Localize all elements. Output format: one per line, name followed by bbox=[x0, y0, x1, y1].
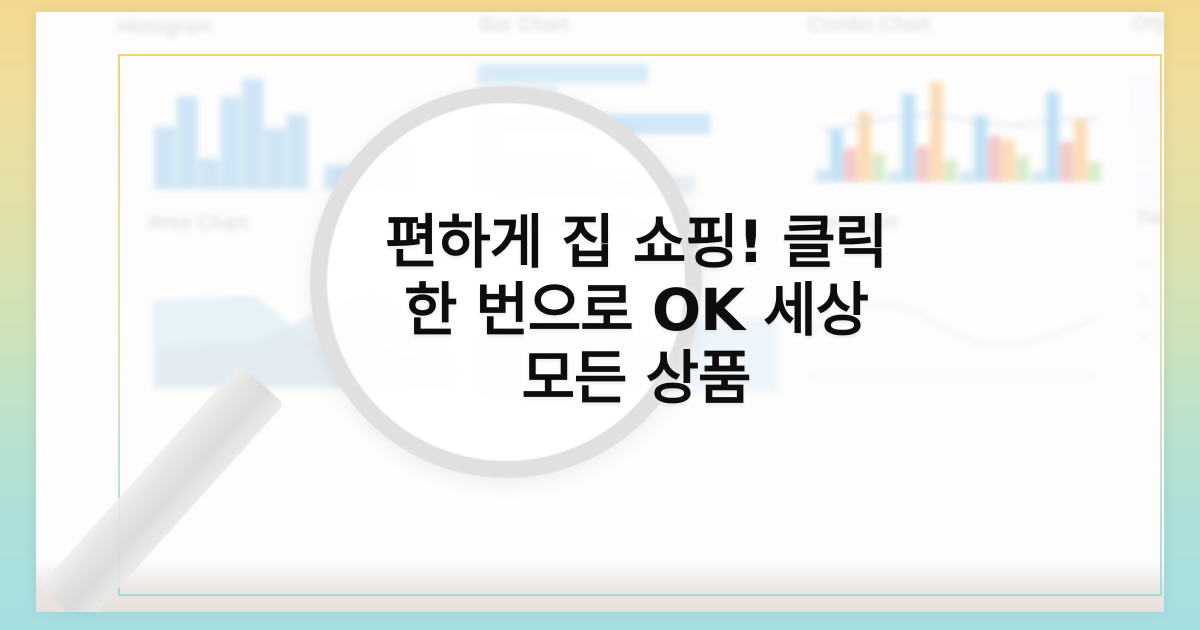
poster-card: Histogram Bar Chart bbox=[36, 12, 1164, 612]
poster-canvas: Histogram Bar Chart bbox=[0, 0, 1200, 630]
org-node: Cleaners bbox=[1138, 174, 1164, 196]
bar-chart-bar bbox=[478, 176, 696, 194]
histogram-bar bbox=[286, 114, 308, 190]
panel-title-combo-chart: Combo Chart bbox=[808, 14, 930, 37]
org-node: Kent bbox=[1138, 138, 1164, 162]
histogram-bar bbox=[242, 78, 264, 190]
headline: 편하게 집 쇼핑! 클릭 한 번으로 OK 세상 모든 상품 bbox=[36, 208, 1164, 412]
bar-chart-bar bbox=[478, 136, 502, 154]
bar-chart-bar bbox=[478, 114, 710, 134]
card-bottom-shadow bbox=[36, 560, 1164, 612]
panel-org-chart: Jerry Vice President Kent Cleaners bbox=[1128, 68, 1164, 198]
histogram-bar bbox=[324, 164, 346, 190]
histogram-bar bbox=[220, 96, 242, 190]
combo-line bbox=[814, 74, 1104, 182]
histogram-bar bbox=[368, 164, 390, 190]
histogram-bar bbox=[154, 126, 176, 190]
bar-chart-bar bbox=[478, 86, 558, 105]
panel-title-histogram: Histogram bbox=[118, 16, 212, 39]
histogram-bar bbox=[390, 138, 412, 190]
histogram-bar bbox=[198, 158, 220, 190]
headline-line-2: 한 번으로 OK 세상 bbox=[36, 276, 1164, 344]
panel-bar-chart bbox=[478, 64, 768, 194]
panel-combo-chart bbox=[814, 74, 1094, 182]
org-node: Jerry Vice President bbox=[1132, 80, 1164, 124]
histogram-bar bbox=[176, 96, 198, 190]
histogram-bar bbox=[346, 164, 368, 190]
panel-histogram bbox=[148, 72, 416, 190]
bar-chart-bar bbox=[478, 156, 590, 174]
headline-line-1: 편하게 집 쇼핑! 클릭 bbox=[36, 208, 1164, 276]
headline-line-3: 모든 상품 bbox=[36, 344, 1164, 412]
histogram-bar bbox=[264, 128, 286, 190]
panel-title-org-chart: Org Chart bbox=[1132, 12, 1164, 35]
bar-chart-bar bbox=[478, 64, 648, 83]
panel-title-bar-chart: Bar Chart bbox=[480, 14, 568, 37]
